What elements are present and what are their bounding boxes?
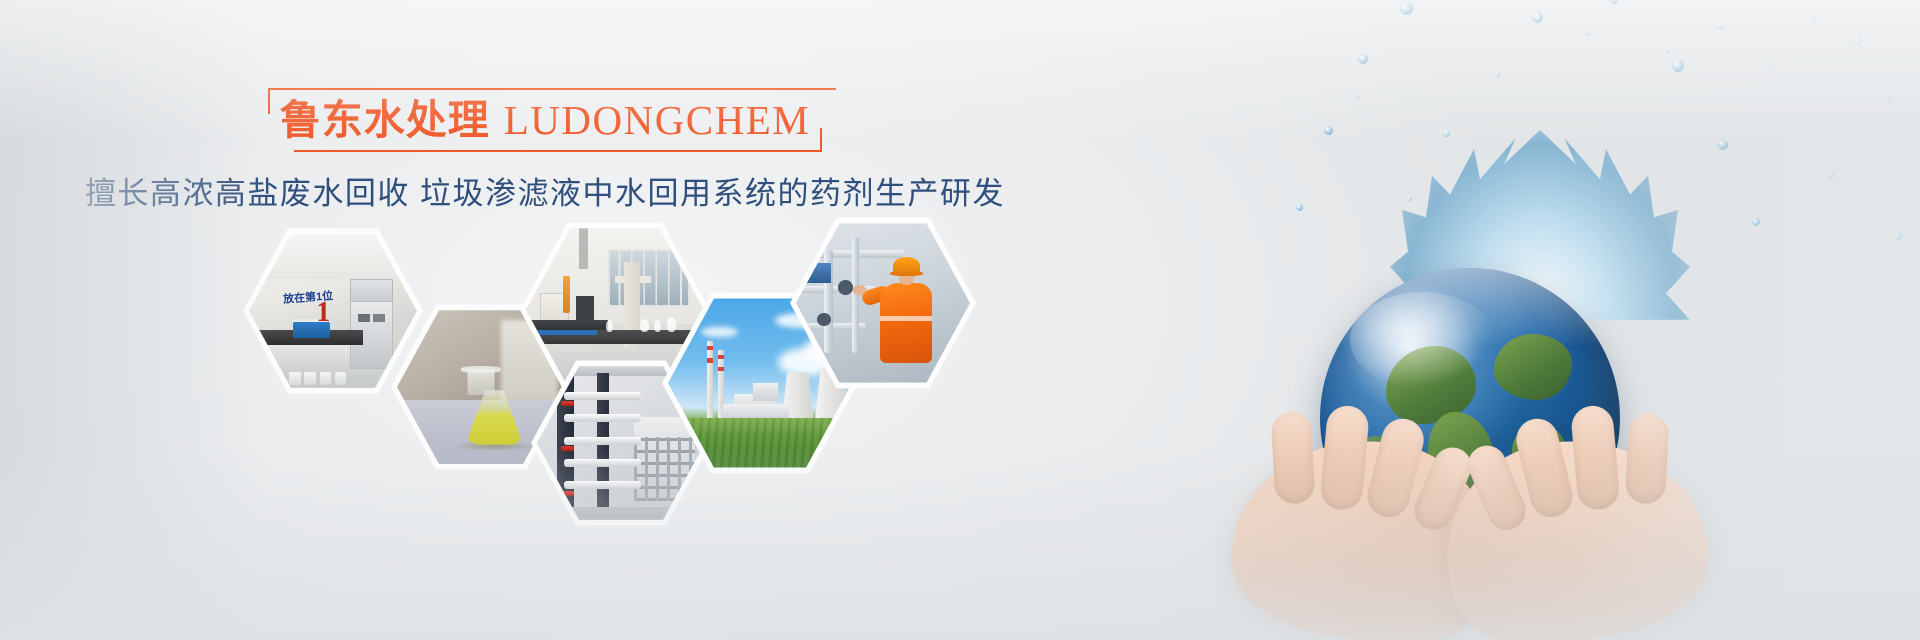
glassware [654, 320, 661, 332]
stack-band [707, 346, 713, 350]
vertical-pipe [852, 237, 859, 353]
control-panel [358, 314, 370, 322]
droplet-icon [1610, 0, 1618, 4]
smokestack [707, 341, 713, 422]
finger [1271, 411, 1316, 505]
red-valve [561, 401, 574, 406]
plant-building [753, 383, 779, 401]
right-palm [1431, 421, 1719, 640]
droplet-icon [1828, 172, 1834, 178]
wall-cabinet [350, 279, 394, 303]
glassware [606, 320, 613, 332]
safety-helmet-icon [893, 257, 919, 275]
droplet-icon [1752, 218, 1760, 226]
droplet-icon [1894, 232, 1902, 240]
hero-banner: 放在第1位 1 [0, 0, 1920, 640]
droplet-icon [1885, 96, 1892, 103]
chemical-jug [304, 372, 316, 385]
membrane-vessel [564, 437, 641, 445]
glassware [640, 319, 649, 333]
cloud [701, 327, 738, 338]
banner-text-block: 鲁东水处理LUDONGCHEM 擅长高浓高盐废水回收 垃圾渗滤液中水回用系统的药… [0, 88, 1090, 213]
finger [1625, 413, 1670, 505]
ceiling-beam [579, 225, 588, 269]
flask-lip [461, 366, 501, 372]
stack-band [718, 367, 724, 371]
droplet-icon [1718, 140, 1728, 150]
title-english: LUDONGCHEM [504, 97, 811, 143]
title-frame: 鲁东水处理LUDONGCHEM [254, 88, 837, 152]
flask-neck [468, 369, 495, 395]
membrane-vessel [564, 392, 641, 400]
worker-orange-coverall [880, 283, 932, 363]
hi-vis-stripe [880, 316, 932, 321]
droplet-icon [1672, 60, 1684, 72]
membrane-array [634, 437, 694, 501]
back-bench [530, 320, 608, 330]
droplet-icon [1296, 204, 1303, 211]
valve-handwheel [838, 280, 854, 295]
stack-band [718, 355, 724, 359]
wall-number-one: 1 [316, 297, 330, 329]
finger [1319, 404, 1370, 511]
bracket-top-tick [268, 88, 270, 114]
glassware [667, 317, 676, 332]
droplet-icon [1853, 36, 1862, 45]
bracket-top-line [268, 88, 837, 90]
droplet-icon [1532, 12, 1543, 23]
orange-apparatus [563, 276, 570, 313]
stack-band [707, 358, 713, 362]
red-valve [561, 446, 574, 451]
chemical-jug [320, 372, 332, 385]
membrane-vessel [564, 414, 641, 422]
worker-hand [853, 285, 865, 295]
chemical-jug [289, 372, 301, 385]
chemical-jug [335, 372, 347, 385]
page-title: 鲁东水处理LUDONGCHEM [280, 98, 811, 144]
bracket-bottom-tick [820, 128, 822, 152]
membrane-vessel [564, 459, 641, 467]
page-subtitle: 擅长高浓高盐废水回收 垃圾渗滤液中水回用系统的药剂生产研发 [0, 168, 1090, 213]
bench-frame [537, 330, 598, 335]
droplet-icon [1358, 54, 1368, 64]
globe-landmass [1494, 334, 1572, 400]
valve-handwheel [817, 313, 831, 326]
water-globe-artwork [1020, 0, 1920, 640]
droplet-icon [1810, 14, 1816, 20]
globe-highlight [1350, 292, 1494, 388]
cupped-hands [1235, 430, 1705, 640]
droplet-icon [1324, 126, 1333, 135]
bracket-bottom-line [294, 150, 823, 152]
droplet-icon [1400, 2, 1413, 15]
control-panel [373, 314, 385, 322]
membrane-vessel [564, 481, 641, 489]
title-chinese: 鲁东水处理 [280, 97, 490, 143]
